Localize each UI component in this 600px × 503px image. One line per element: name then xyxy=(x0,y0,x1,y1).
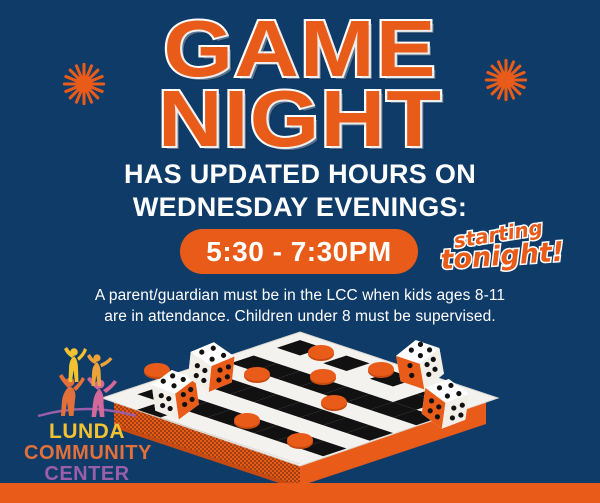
logo-wordmark: LUNDA COMMUNITY CENTER xyxy=(24,421,150,484)
logo-word-community: COMMUNITY xyxy=(24,443,150,464)
logo-word-lunda: LUNDA xyxy=(24,421,150,443)
body-text-line-2: are in attendance. Children under 8 must… xyxy=(0,307,600,328)
lunda-community-center-logo: LUNDA COMMUNITY CENTER xyxy=(24,344,150,484)
time-pill: 5:30 - 7:30PM xyxy=(180,229,418,274)
logo-word-center: CENTER xyxy=(24,464,150,485)
body-text: A parent/guardian must be in the LCC whe… xyxy=(0,286,600,328)
subheading-line-1: HAS UPDATED HOURS ON xyxy=(0,158,600,191)
logo-figures-icon xyxy=(24,344,150,420)
headline-line-2: NIGHT xyxy=(0,82,600,156)
bottom-accent-bar xyxy=(0,483,600,503)
headline: GAME NIGHT xyxy=(0,12,600,155)
subheading: HAS UPDATED HOURS ON WEDNESDAY EVENINGS: xyxy=(0,158,600,224)
body-text-line-1: A parent/guardian must be in the LCC whe… xyxy=(0,286,600,307)
poster-canvas: GAME NIGHT HAS UPDATED HOURS ON WEDNESDA… xyxy=(0,0,600,503)
time-pill-label: 5:30 - 7:30PM xyxy=(206,236,391,268)
badge-line-2: tonight! xyxy=(440,239,562,276)
starting-tonight-badge: starting tonight! xyxy=(437,218,562,286)
